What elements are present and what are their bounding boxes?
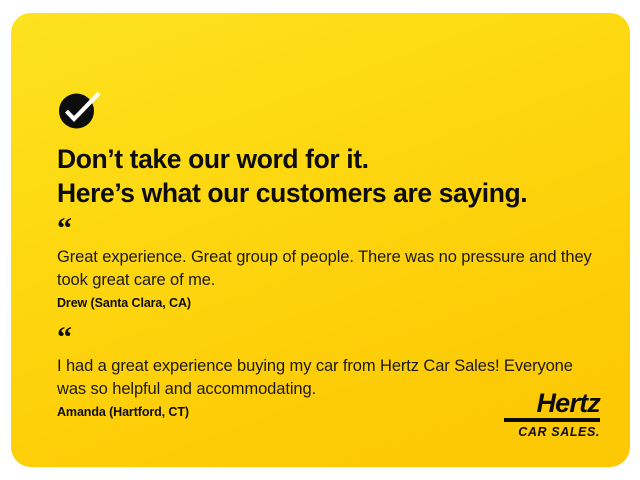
logo-underline-rule (504, 418, 600, 422)
hertz-car-sales-logo: Hertz CAR SALES. (480, 389, 600, 439)
testimonial-card: Don’t take our word for it. Here’s what … (11, 13, 630, 467)
check-circle-icon (58, 90, 102, 130)
screenshot-root: Don’t take our word for it. Here’s what … (0, 0, 640, 480)
testimonial-author: Drew (Santa Clara, CA) (57, 296, 617, 310)
testimonial-body: Great experience. Great group of people.… (57, 246, 603, 292)
quote-mark-icon: “ (57, 223, 617, 238)
testimonial-item: “ Great experience. Great group of peopl… (57, 223, 617, 310)
quote-mark-icon: “ (57, 332, 617, 347)
headline-line-2: Here’s what our customers are saying. (57, 176, 617, 210)
headline-line-1: Don’t take our word for it. (57, 142, 617, 176)
logo-subtitle: CAR SALES. (480, 425, 600, 439)
logo-wordmark: Hertz (480, 389, 600, 417)
headline: Don’t take our word for it. Here’s what … (57, 142, 617, 210)
